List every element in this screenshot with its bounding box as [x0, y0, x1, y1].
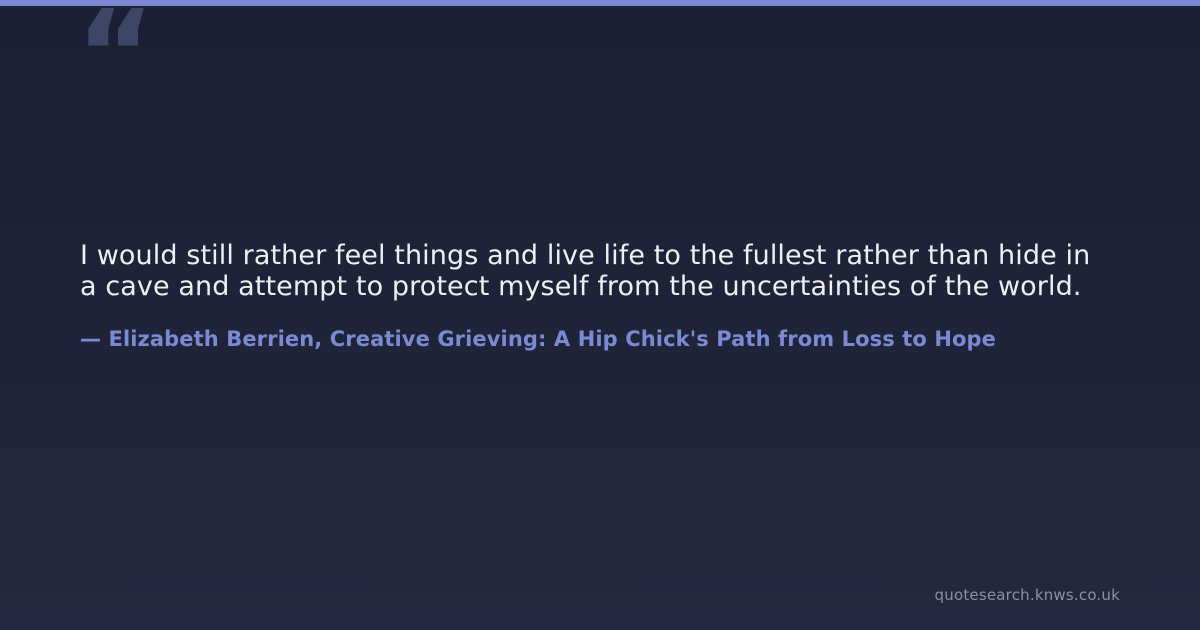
- quote-content-block: I would still rather feel things and liv…: [80, 240, 1120, 352]
- quote-attribution: — Elizabeth Berrien, Creative Grieving: …: [80, 302, 1120, 352]
- quote-card: “ I would still rather feel things and l…: [0, 0, 1200, 630]
- quote-text: I would still rather feel things and liv…: [80, 240, 1105, 302]
- site-watermark: quotesearch.knws.co.uk: [935, 586, 1120, 604]
- top-accent-bar: [0, 0, 1200, 6]
- quotation-mark-icon: “: [76, 0, 153, 116]
